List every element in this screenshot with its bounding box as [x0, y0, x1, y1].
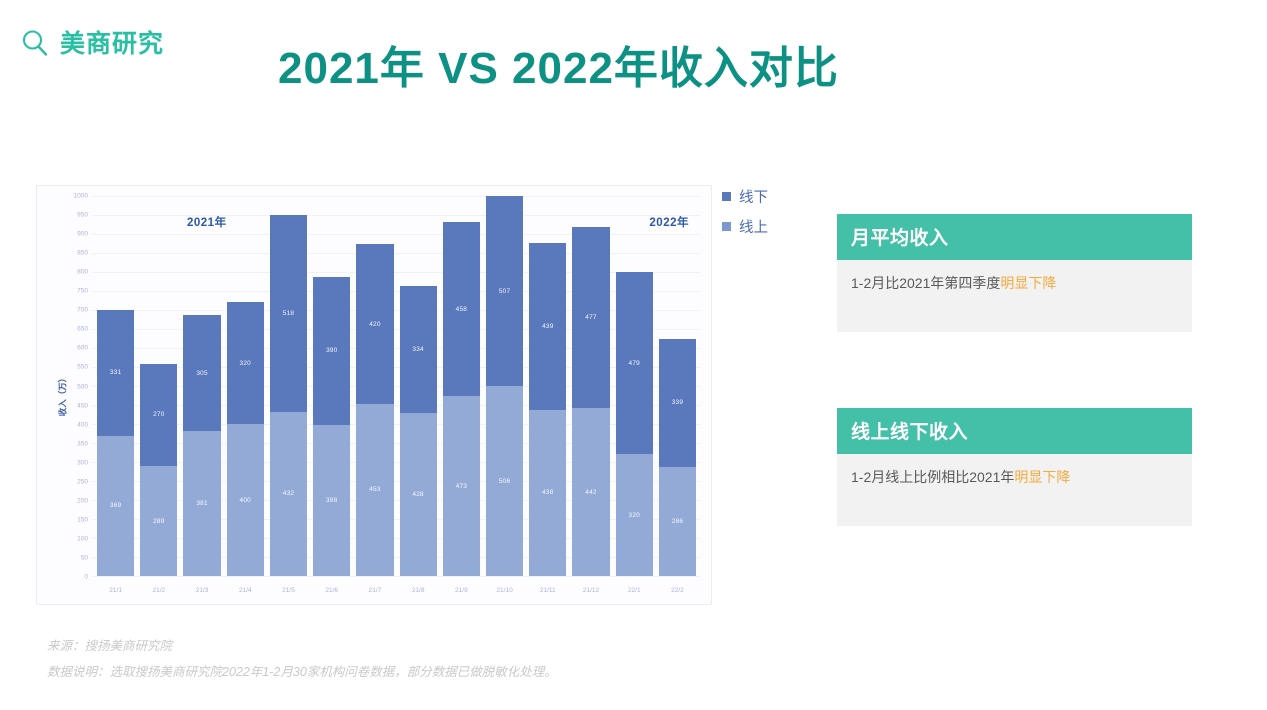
brand-logo: 美商研究 — [18, 27, 164, 61]
bar-column[interactable]: 390398 — [313, 196, 350, 576]
page-title: 2021年 VS 2022年收入对比 — [278, 32, 839, 96]
card-body-highlight: 明显下降 — [1014, 469, 1070, 485]
bar-segment-online[interactable]: 369 — [97, 436, 134, 576]
bar-value-label: 506 — [499, 478, 510, 485]
bar-segment-offline[interactable]: 270 — [140, 364, 177, 467]
x-axis-labels: 21/121/221/321/421/521/621/721/821/921/1… — [92, 587, 701, 594]
x-axis-tick: 22/1 — [616, 587, 653, 594]
bar-column[interactable]: 420453 — [356, 196, 393, 576]
bar-segment-offline[interactable]: 518 — [270, 215, 307, 412]
x-axis-tick: 22/2 — [659, 587, 696, 594]
card-body: 1-2月比2021年第四季度明显下降 — [837, 260, 1192, 332]
bar-segment-online[interactable]: 506 — [486, 386, 523, 576]
bar-value-label: 289 — [153, 518, 164, 525]
y-axis-tick: 350 — [77, 440, 88, 447]
card-heading: 月平均收入 — [837, 214, 1192, 260]
bar-value-label: 420 — [369, 321, 380, 328]
x-axis-tick: 21/6 — [313, 587, 350, 594]
y-axis-tick: 500 — [77, 383, 88, 390]
footer-notes: 来源：搜扬美商研究院 数据说明：选取搜扬美商研究院2022年1-2月30家机构问… — [47, 633, 557, 686]
bar-column[interactable]: 477442 — [572, 196, 609, 576]
y-axis-tick: 450 — [77, 402, 88, 409]
bar-segment-online[interactable]: 453 — [356, 404, 393, 576]
bar-segment-online[interactable]: 473 — [443, 396, 480, 576]
x-axis-tick: 21/4 — [227, 587, 264, 594]
y-axis-tick: 850 — [77, 250, 88, 257]
bar-segment-online[interactable]: 432 — [270, 412, 307, 576]
y-axis-tick: 300 — [77, 459, 88, 466]
bar-segment-online[interactable]: 286 — [659, 467, 696, 576]
bar-segment-online[interactable]: 381 — [183, 431, 220, 576]
legend-item-online[interactable]: 线上 — [722, 216, 768, 237]
bar-segment-offline[interactable]: 305 — [183, 315, 220, 431]
bar-value-label: 400 — [240, 497, 251, 504]
y-axis-tick: 50 — [81, 554, 88, 561]
bar-column[interactable]: 320400 — [227, 196, 264, 576]
bar-value-label: 438 — [542, 489, 553, 496]
insight-card-online-offline: 线上线下收入 1-2月线上比例相比2021年明显下降 — [837, 408, 1192, 526]
bar-value-label: 473 — [456, 483, 467, 490]
brand-name: 美商研究 — [60, 32, 164, 57]
bar-value-label: 320 — [240, 360, 251, 367]
bar-segment-offline[interactable]: 320 — [227, 302, 264, 424]
bar-value-label: 428 — [412, 491, 423, 498]
y-axis-tick: 900 — [77, 231, 88, 238]
bar-column[interactable]: 305381 — [183, 196, 220, 576]
footer-note: 数据说明：选取搜扬美商研究院2022年1-2月30家机构问卷数据，部分数据已做脱… — [47, 659, 557, 685]
bar-column[interactable]: 507506 — [486, 196, 523, 576]
y-axis-tick: 950 — [77, 212, 88, 219]
bar-column[interactable]: 270289 — [140, 196, 177, 576]
legend-swatch-icon — [722, 192, 731, 201]
bar-column[interactable]: 458473 — [443, 196, 480, 576]
bar-value-label: 339 — [672, 399, 683, 406]
bar-column[interactable]: 439438 — [529, 196, 566, 576]
bar-value-label: 458 — [456, 306, 467, 313]
y-axis-tick: 200 — [77, 497, 88, 504]
y-axis-tick: 100 — [77, 535, 88, 542]
legend-label-online: 线上 — [739, 216, 768, 237]
bar-value-label: 381 — [196, 500, 207, 507]
x-axis-tick: 21/12 — [572, 587, 609, 594]
bar-value-label: 432 — [283, 490, 294, 497]
bar-segment-offline[interactable]: 439 — [529, 243, 566, 410]
footer-source: 来源：搜扬美商研究院 — [47, 633, 557, 659]
bar-value-label: 369 — [110, 502, 121, 509]
x-axis-tick: 21/8 — [400, 587, 437, 594]
y-axis-tick: 650 — [77, 326, 88, 333]
bar-value-label: 477 — [585, 314, 596, 321]
y-axis-tick: 700 — [77, 307, 88, 314]
y-axis-tick: 400 — [77, 421, 88, 428]
plot-area: 0501001502002503003504004505005506006507… — [92, 196, 701, 576]
bar-segment-online[interactable]: 289 — [140, 466, 177, 576]
legend-label-offline: 线下 — [739, 186, 768, 207]
legend-swatch-icon — [722, 222, 731, 231]
bar-segment-online[interactable]: 320 — [616, 454, 653, 576]
bar-segment-offline[interactable]: 507 — [486, 196, 523, 386]
bar-segment-offline[interactable]: 390 — [313, 277, 350, 425]
bar-value-label: 507 — [499, 288, 510, 295]
bar-value-label: 270 — [153, 411, 164, 418]
x-axis-tick: 21/9 — [443, 587, 480, 594]
magnifier-icon — [18, 27, 52, 61]
y-axis-tick: 1000 — [74, 193, 88, 200]
x-axis-tick: 21/7 — [356, 587, 393, 594]
bar-segment-online[interactable]: 400 — [227, 424, 264, 576]
bar-value-label: 305 — [196, 370, 207, 377]
card-body: 1-2月线上比例相比2021年明显下降 — [837, 454, 1192, 526]
x-axis-tick: 21/1 — [97, 587, 134, 594]
y-axis-tick: 750 — [77, 288, 88, 295]
legend-item-offline[interactable]: 线下 — [722, 186, 768, 207]
bar-column[interactable]: 518432 — [270, 196, 307, 576]
chart-panel: 收入（万） 2021年 2022年 0501001502002503003504… — [36, 185, 712, 605]
bar-segment-offline[interactable]: 331 — [97, 310, 134, 436]
bar-column[interactable]: 479320 — [616, 196, 653, 576]
y-axis-tick: 250 — [77, 478, 88, 485]
x-axis-tick: 21/5 — [270, 587, 307, 594]
bar-series: 3313692702893053813204005184323903984204… — [92, 196, 701, 576]
y-axis-tick: 550 — [77, 364, 88, 371]
bar-segment-online[interactable]: 398 — [313, 425, 350, 576]
y-axis-tick: 800 — [77, 269, 88, 276]
bar-column[interactable]: 331369 — [97, 196, 134, 576]
insight-card-monthly-average: 月平均收入 1-2月比2021年第四季度明显下降 — [837, 214, 1192, 332]
bar-value-label: 390 — [326, 347, 337, 354]
x-axis-tick: 21/10 — [486, 587, 523, 594]
bar-segment-online[interactable]: 428 — [400, 413, 437, 576]
bar-segment-offline[interactable]: 339 — [659, 339, 696, 468]
card-body-highlight: 明显下降 — [1000, 275, 1056, 291]
y-axis-tick: 600 — [77, 345, 88, 352]
y-axis-tick: 150 — [77, 516, 88, 523]
bar-value-label: 518 — [283, 310, 294, 317]
bar-segment-offline[interactable]: 477 — [572, 227, 609, 408]
card-body-text: 1-2月线上比例相比2021年 — [851, 469, 1014, 485]
gridline: 0 — [92, 576, 701, 577]
bar-value-label: 439 — [542, 323, 553, 330]
bar-segment-online[interactable]: 438 — [529, 410, 566, 576]
bar-value-label: 453 — [369, 486, 380, 493]
y-axis-title: 收入（万） — [56, 374, 68, 417]
bar-column[interactable]: 339286 — [659, 196, 696, 576]
card-heading: 线上线下收入 — [837, 408, 1192, 454]
bar-value-label: 442 — [585, 489, 596, 496]
bar-value-label: 398 — [326, 497, 337, 504]
x-axis-tick: 21/2 — [140, 587, 177, 594]
bar-value-label: 334 — [412, 346, 423, 353]
bar-column[interactable]: 334428 — [400, 196, 437, 576]
x-axis-tick: 21/11 — [529, 587, 566, 594]
card-body-text: 1-2月比2021年第四季度 — [851, 275, 1000, 291]
bar-segment-offline[interactable]: 458 — [443, 222, 480, 396]
x-axis-tick: 21/3 — [183, 587, 220, 594]
bar-segment-offline[interactable]: 479 — [616, 272, 653, 454]
bar-value-label: 286 — [672, 518, 683, 525]
bar-segment-offline[interactable]: 334 — [400, 286, 437, 413]
bar-value-label: 331 — [110, 369, 121, 376]
y-axis-tick: 0 — [84, 574, 88, 581]
bar-value-label: 479 — [629, 360, 640, 367]
bar-segment-online[interactable]: 442 — [572, 408, 609, 576]
bar-value-label: 320 — [629, 512, 640, 519]
slide-root: 美商研究 2021年 VS 2022年收入对比 收入（万） 2021年 2022… — [0, 0, 1267, 710]
bar-segment-offline[interactable]: 420 — [356, 244, 393, 404]
chart-legend: 线下 线上 — [722, 186, 768, 237]
